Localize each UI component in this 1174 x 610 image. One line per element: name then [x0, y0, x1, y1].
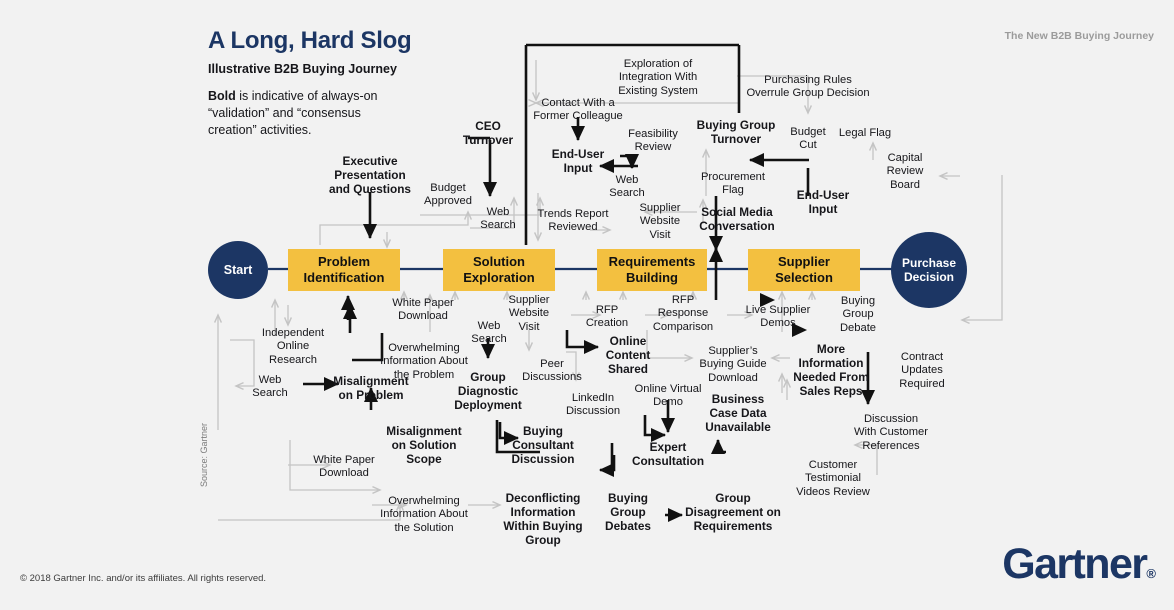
activity-deconflicting-information: Deconflicting Information Within Buying … — [494, 491, 592, 547]
node-requirements-building-label: Requirements Building — [609, 254, 696, 286]
activity-exploration-of-integration: Exploration of Integration With Existing… — [600, 58, 716, 98]
activity-web-search-top: Web Search — [602, 174, 652, 201]
activity-social-media-conversation: Social Media Conversation — [689, 205, 785, 233]
activity-web-search-upper: Web Search — [474, 206, 522, 233]
activity-budget-cut: Budget Cut — [781, 126, 835, 153]
node-solution-exploration: Solution Exploration — [443, 249, 555, 291]
activity-buying-consultant-discussion: Buying Consultant Discussion — [499, 424, 587, 466]
activity-overwhelming-info-solution: Overwhelming Information About the Solut… — [362, 495, 486, 535]
activity-end-user-input-top: End-User Input — [541, 147, 615, 175]
page-title: A Long, Hard Slog — [208, 27, 411, 55]
activity-supplier-website-visit-top: Supplier Website Visit — [630, 202, 690, 242]
activity-discussion-customer-references: Discussion With Customer References — [839, 413, 943, 453]
node-supplier-selection-label: Supplier Selection — [775, 254, 833, 286]
activity-trends-report-reviewed: Trends Report Reviewed — [523, 208, 623, 235]
activity-ceo-turnover: CEO Turnover — [453, 119, 523, 147]
activity-independent-online-research: Independent Online Research — [248, 327, 338, 367]
node-requirements-building: Requirements Building — [597, 249, 707, 291]
activity-customer-testimonial-videos: Customer Testimonial Videos Review — [783, 459, 883, 499]
activity-budget-approved: Budget Approved — [412, 182, 484, 209]
node-problem-identification: Problem Identification — [288, 249, 400, 291]
copyright-notice: © 2018 Gartner Inc. and/or its affiliate… — [20, 573, 266, 584]
activity-group-disagreement: Group Disagreement on Requirements — [675, 491, 791, 533]
activity-contract-updates-required: Contract Updates Required — [889, 351, 955, 391]
activity-business-case-data-unavailable: Business Case Data Unavailable — [694, 392, 782, 434]
activity-web-search-left: Web Search — [246, 374, 294, 401]
activity-end-user-input-right: End-User Input — [786, 188, 860, 216]
activity-buying-group-debate: Buying Group Debate — [829, 295, 887, 335]
activity-buying-group-turnover: Buying Group Turnover — [687, 118, 785, 146]
activity-white-paper-download-lower: White Paper Download — [300, 454, 388, 481]
node-supplier-selection: Supplier Selection — [748, 249, 860, 291]
activity-expert-consultation: Expert Consultation — [622, 440, 714, 468]
node-purchase-decision: Purchase Decision — [891, 232, 967, 308]
activity-buying-group-debates: Buying Group Debates — [599, 491, 657, 533]
node-solution-exploration-label: Solution Exploration — [463, 254, 535, 286]
bold-legend: Bold is indicative of always-on “validat… — [208, 88, 408, 139]
node-start-label: Start — [224, 263, 252, 277]
activity-white-paper-download-upper: White Paper Download — [380, 297, 466, 324]
activity-more-information-sales-reps: More Information Needed From Sales Reps — [781, 342, 881, 398]
legend-bold-word: Bold — [208, 89, 236, 103]
deck-corner-label: The New B2B Buying Journey — [1005, 30, 1154, 42]
activity-online-content-shared: Online Content Shared — [597, 334, 659, 376]
activity-rfp-response-comparison: RFP Response Comparison — [641, 294, 725, 334]
activity-live-supplier-demos: Live Supplier Demos — [732, 304, 824, 331]
activity-misalignment-on-problem: Misalignment on Problem — [320, 374, 422, 402]
activity-suppliers-buying-guide: Supplier’s Buying Guide Download — [685, 345, 781, 385]
registered-trademark-icon: ® — [1146, 566, 1156, 581]
page-subtitle: Illustrative B2B Buying Journey — [208, 62, 397, 76]
activity-procurement-flag: Procurement Flag — [689, 171, 777, 198]
activity-purchasing-rules-overrule: Purchasing Rules Overrule Group Decision — [728, 74, 888, 101]
activity-misalignment-on-solution-scope: Misalignment on Solution Scope — [373, 424, 475, 466]
gartner-logo: Gartner® — [1002, 543, 1156, 586]
activity-feasibility-review: Feasibility Review — [619, 128, 687, 155]
node-purchase-decision-label: Purchase Decision — [902, 256, 956, 284]
activity-group-diagnostic-deployment: Group Diagnostic Deployment — [443, 370, 533, 412]
activity-contact-with-former-colleague: Contact With a Former Colleague — [521, 97, 635, 124]
source-note: Source: Gartner — [199, 423, 209, 487]
activity-legal-flag: Legal Flag — [830, 127, 900, 140]
activity-capital-review-board: Capital Review Board — [877, 152, 933, 192]
activity-executive-presentation: Executive Presentation and Questions — [315, 154, 425, 196]
activity-web-search-mid: Web Search — [465, 320, 513, 347]
activity-rfp-creation: RFP Creation — [577, 304, 637, 331]
gartner-logo-text: Gartner — [1002, 540, 1146, 588]
node-start: Start — [208, 241, 268, 299]
gartner-b2b-journey-infographic: A Long, Hard Slog Illustrative B2B Buyin… — [0, 0, 1174, 610]
node-problem-identification-label: Problem Identification — [304, 254, 385, 286]
